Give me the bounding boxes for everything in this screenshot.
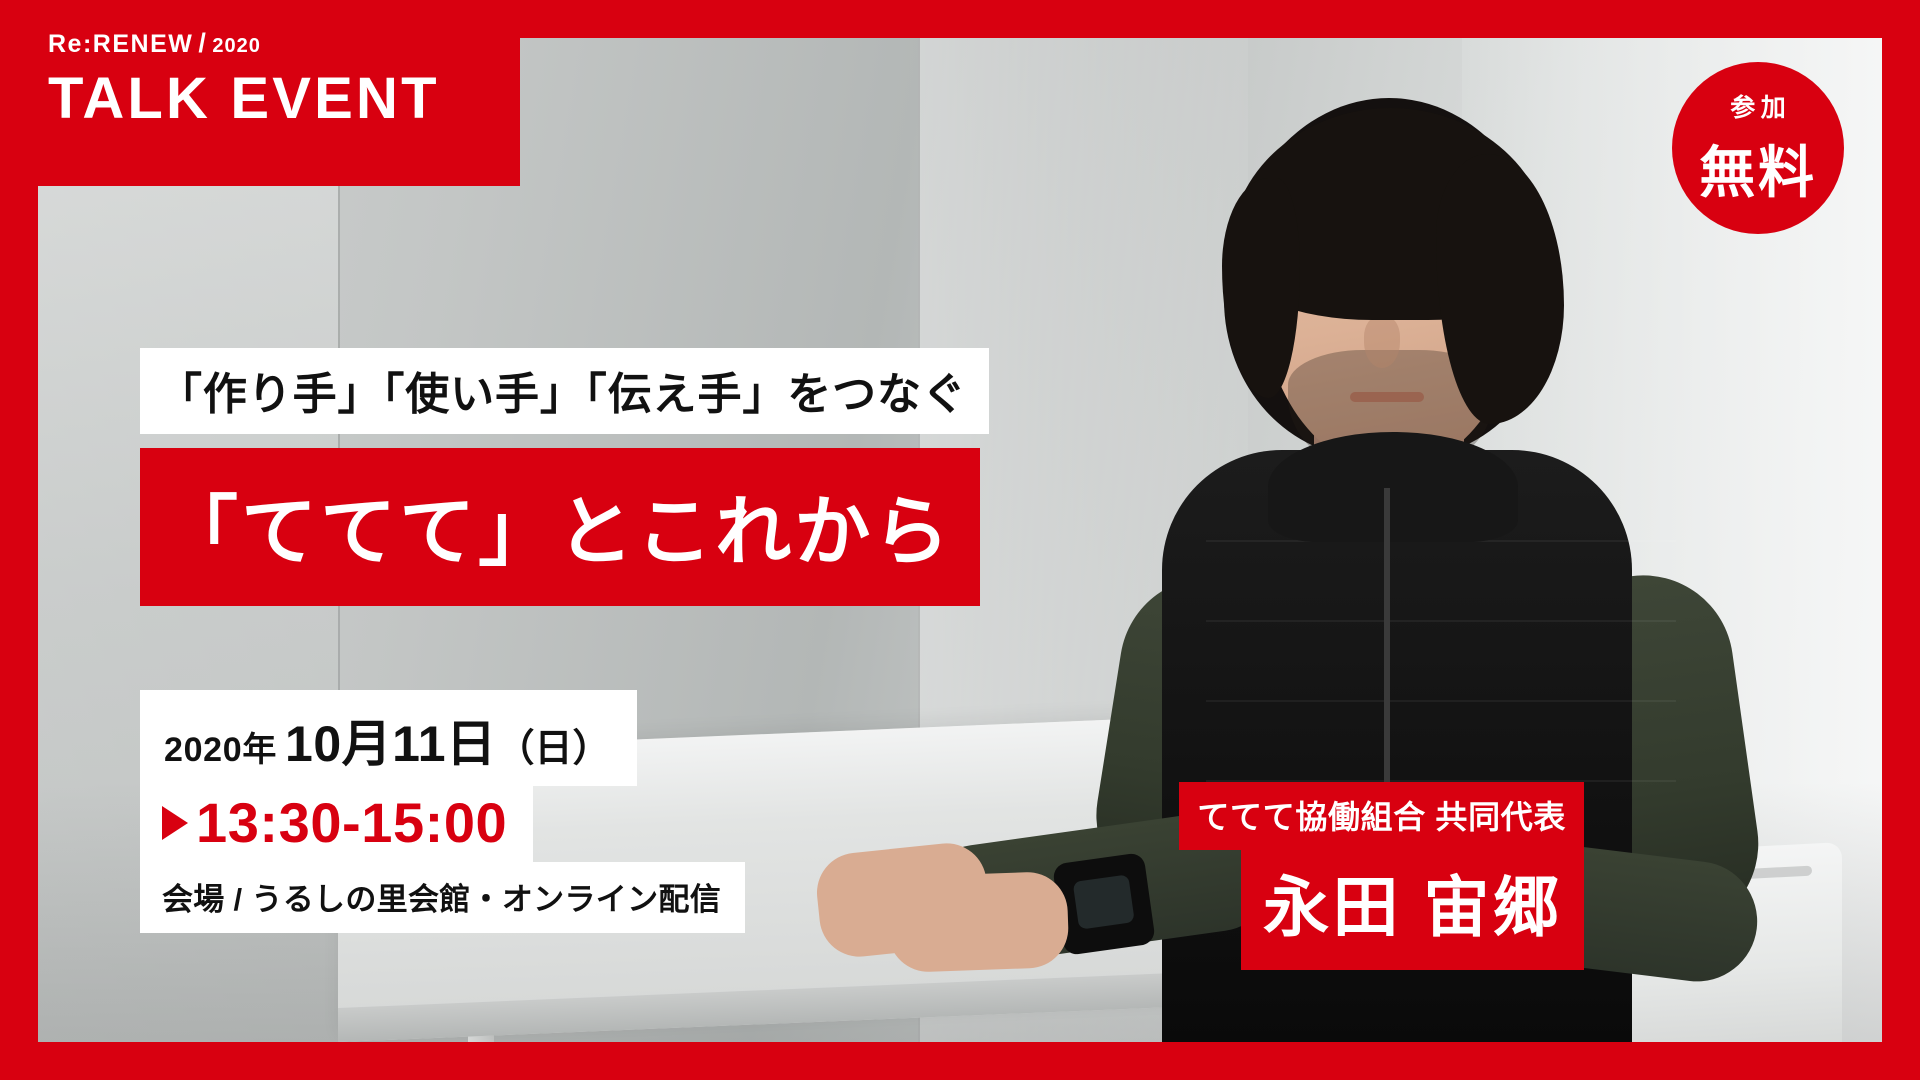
wristwatch: [1052, 852, 1156, 956]
vest-collar: [1268, 432, 1518, 542]
date-block: 2020年 10月11日 （日）: [140, 690, 637, 786]
time-block: 13:30-15:00: [140, 782, 533, 865]
brand-block: Re:RENEW / 2020 TALK EVENT: [0, 0, 520, 186]
hand-right: [886, 871, 1069, 973]
free-admission-badge: 参加 無料: [1672, 62, 1844, 234]
sub-headline: 「作り手」「使い手」「伝え手」をつなぐ: [140, 348, 989, 434]
event-type-title: TALK EVENT: [48, 69, 520, 130]
badge-participation-label: 参加: [1725, 88, 1792, 124]
hair-side-left: [1222, 178, 1300, 398]
brand-year: 2020: [212, 35, 261, 58]
brand-prefix: Re:RENEW: [48, 30, 193, 59]
nose: [1364, 316, 1400, 368]
brand-line: Re:RENEW / 2020: [48, 28, 520, 59]
speaker-name: 永田 宙郷: [1241, 840, 1584, 970]
frame-right: [1882, 0, 1920, 1080]
play-triangle-icon: [162, 806, 188, 840]
time-range: 13:30-15:00: [196, 790, 507, 855]
main-headline: 「ててて」とこれから: [140, 448, 980, 606]
mouth: [1350, 392, 1424, 402]
date-weekday: （日）: [497, 717, 611, 772]
date-year: 2020年: [164, 722, 277, 771]
venue-block: 会場 / うるしの里会館・オンライン配信: [140, 862, 745, 933]
date-day: 10月11日: [285, 704, 496, 776]
frame-bottom: [0, 1042, 1920, 1080]
brand-slash: /: [198, 28, 207, 59]
badge-free-label: 無料: [1699, 128, 1817, 209]
talk-event-poster: Re:RENEW / 2020 TALK EVENT 参加 無料 「作り手」「使…: [0, 0, 1920, 1080]
